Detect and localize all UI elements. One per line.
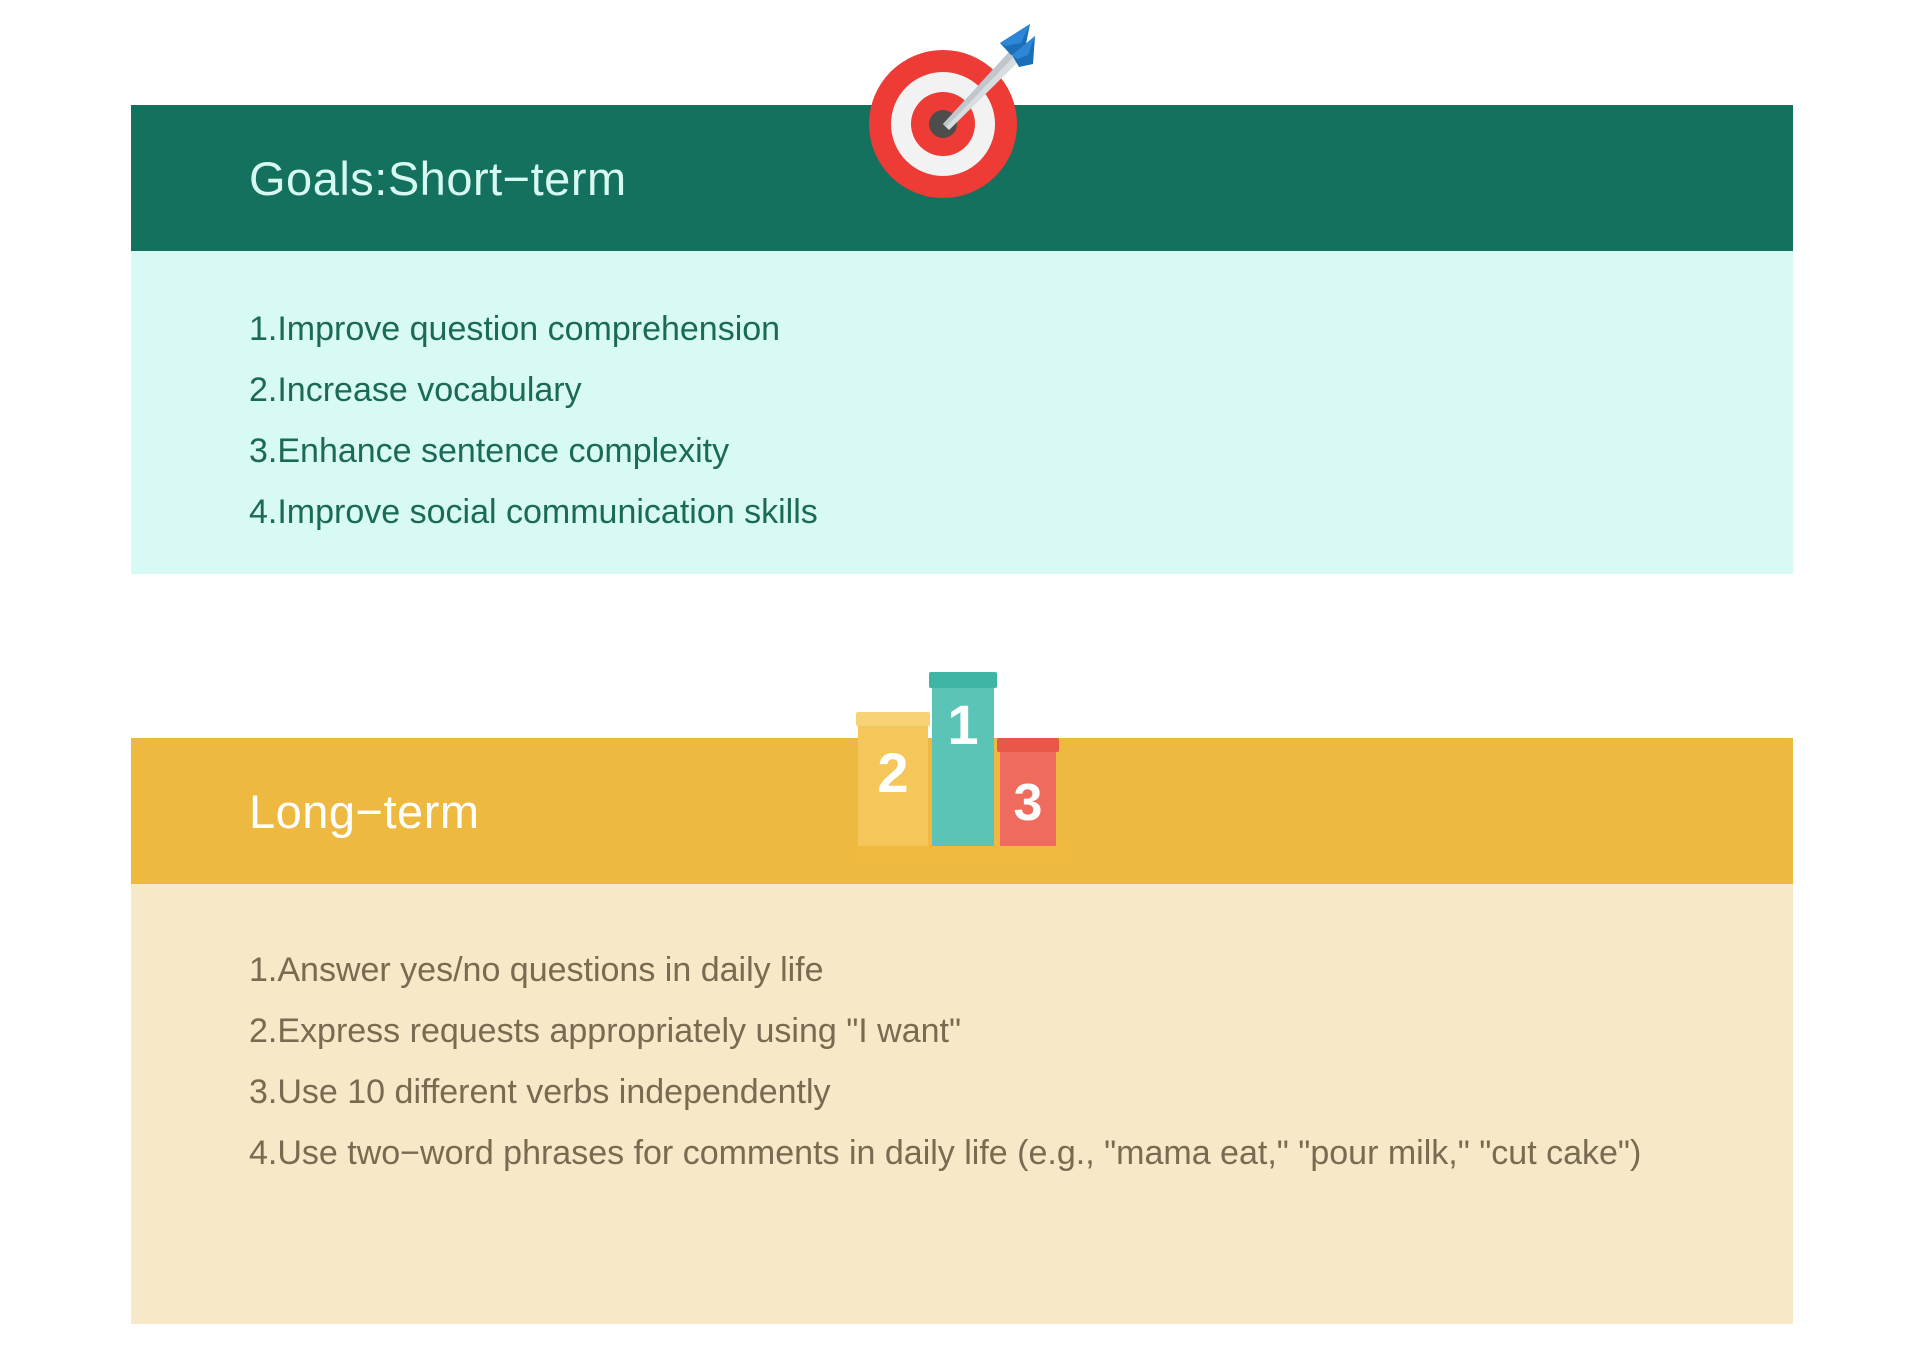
list-item: 1.Improve question comprehension — [249, 299, 1733, 360]
list-item: 3.Use 10 different verbs independently — [249, 1062, 1713, 1123]
long-term-goal-list: 1.Answer yes/no questions in daily life … — [249, 940, 1713, 1184]
list-item: 4.Use two−word phrases for comments in d… — [249, 1123, 1713, 1184]
short-term-body: 1.Improve question comprehension 2.Incre… — [131, 251, 1793, 574]
list-item: 4.Improve social communication skills — [249, 482, 1733, 543]
short-term-goals-card: Goals:Short−term 1.Improve question comp… — [131, 105, 1793, 574]
list-item: 2.Increase vocabulary — [249, 360, 1733, 421]
long-term-header: Long−term — [131, 738, 1793, 884]
short-term-goal-list: 1.Improve question comprehension 2.Incre… — [249, 299, 1733, 543]
short-term-title: Goals:Short−term — [249, 151, 627, 206]
slide-canvas: Goals:Short−term 1.Improve question comp… — [0, 0, 1920, 1365]
list-item: 3.Enhance sentence complexity — [249, 421, 1733, 482]
short-term-header: Goals:Short−term — [131, 105, 1793, 251]
long-term-title: Long−term — [249, 784, 480, 839]
list-item: 2.Express requests appropriately using "… — [249, 1001, 1713, 1062]
list-item: 1.Answer yes/no questions in daily life — [249, 940, 1713, 1001]
long-term-goals-card: Long−term 1.Answer yes/no questions in d… — [131, 738, 1793, 1324]
long-term-body: 1.Answer yes/no questions in daily life … — [131, 884, 1793, 1324]
